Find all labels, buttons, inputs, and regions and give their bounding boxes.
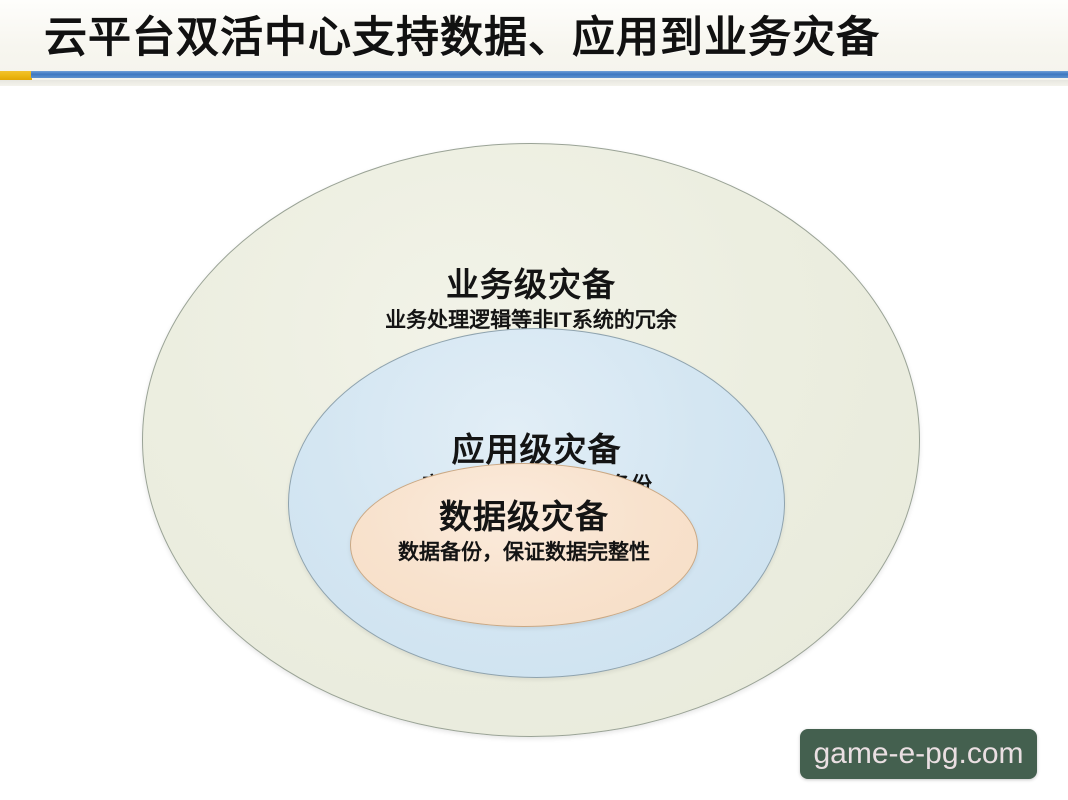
ring-data-text: 数据级灾备 数据备份，保证数据完整性 <box>351 496 697 568</box>
header-divider <box>0 71 1068 80</box>
ring-business-heading: 业务级灾备 <box>143 264 919 306</box>
ring-data-level[interactable]: 数据级灾备 数据备份，保证数据完整性 <box>350 463 698 627</box>
ring-data-heading: 数据级灾备 <box>351 496 697 538</box>
slide: 云平台双活中心支持数据、应用到业务灾备 业务级灾备 业务处理逻辑等非IT系统的冗… <box>0 0 1068 800</box>
watermark-label: game-e-pg.com <box>813 739 1023 769</box>
divider-gold-segment <box>0 71 32 80</box>
watermark-badge: game-e-pg.com <box>800 729 1037 779</box>
slide-header: 云平台双活中心支持数据、应用到业务灾备 <box>0 0 1068 86</box>
diagram-canvas: 业务级灾备 业务处理逻辑等非IT系统的冗余 应用级灾备 应用处理系统的冗余备份 … <box>0 86 1068 800</box>
page-title: 云平台双活中心支持数据、应用到业务灾备 <box>44 11 880 65</box>
ring-data-subtitle: 数据备份，保证数据完整性 <box>351 538 697 568</box>
ring-business-text: 业务级灾备 业务处理逻辑等非IT系统的冗余 <box>143 264 919 336</box>
divider-blue-segment <box>31 71 1068 78</box>
